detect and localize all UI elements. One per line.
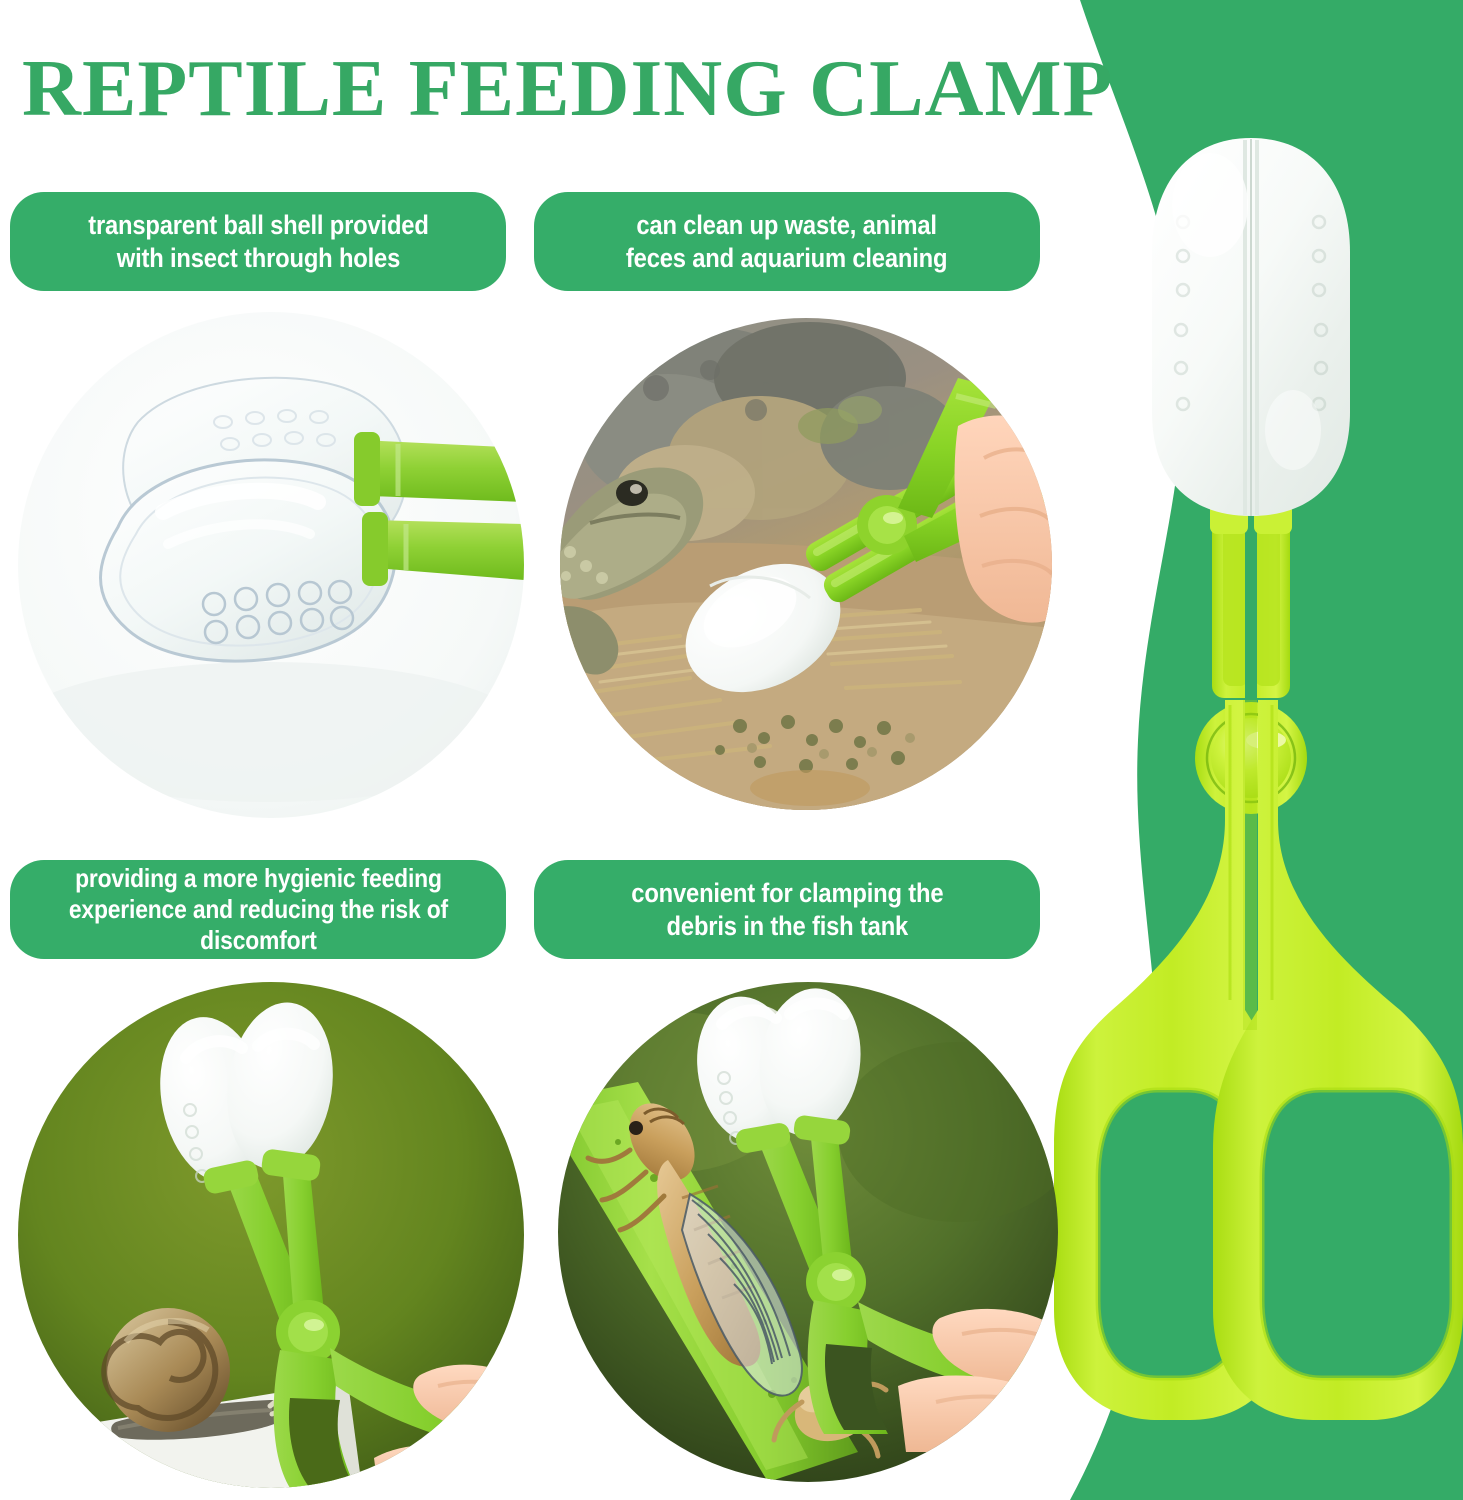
product-illustration: [1040, 0, 1463, 1500]
feature-label-hygienic-feeding: providing a more hygienic feeding experi…: [10, 860, 506, 959]
feature-photo-cicada-on-stem-with-clamp: [558, 982, 1058, 1482]
product-panel: [1040, 0, 1463, 1500]
feature-photo-snail-on-post-with-clamp: [18, 982, 524, 1488]
feature-label-clamping-debris: convenient for clamping the debris in th…: [534, 860, 1040, 959]
feature-label-text: can clean up waste, animal feces and aqu…: [626, 209, 947, 275]
feature-label-text: providing a more hygienic feeding experi…: [68, 863, 447, 956]
feature-label-clean-up-waste: can clean up waste, animal feces and aqu…: [534, 192, 1040, 291]
feature-photo-lizard-feeding-terrarium: [560, 318, 1052, 810]
feature-photo-clear-ball-shell-closeup: [18, 312, 524, 818]
feature-label-transparent-ball-shell: transparent ball shell provided with ins…: [10, 192, 506, 291]
page-title: REPTILE FEEDING CLAMP: [22, 46, 1164, 132]
ball-shell-head: [1152, 138, 1350, 516]
feature-label-text: transparent ball shell provided with ins…: [88, 209, 428, 275]
feature-label-text: convenient for clamping the debris in th…: [631, 877, 943, 943]
